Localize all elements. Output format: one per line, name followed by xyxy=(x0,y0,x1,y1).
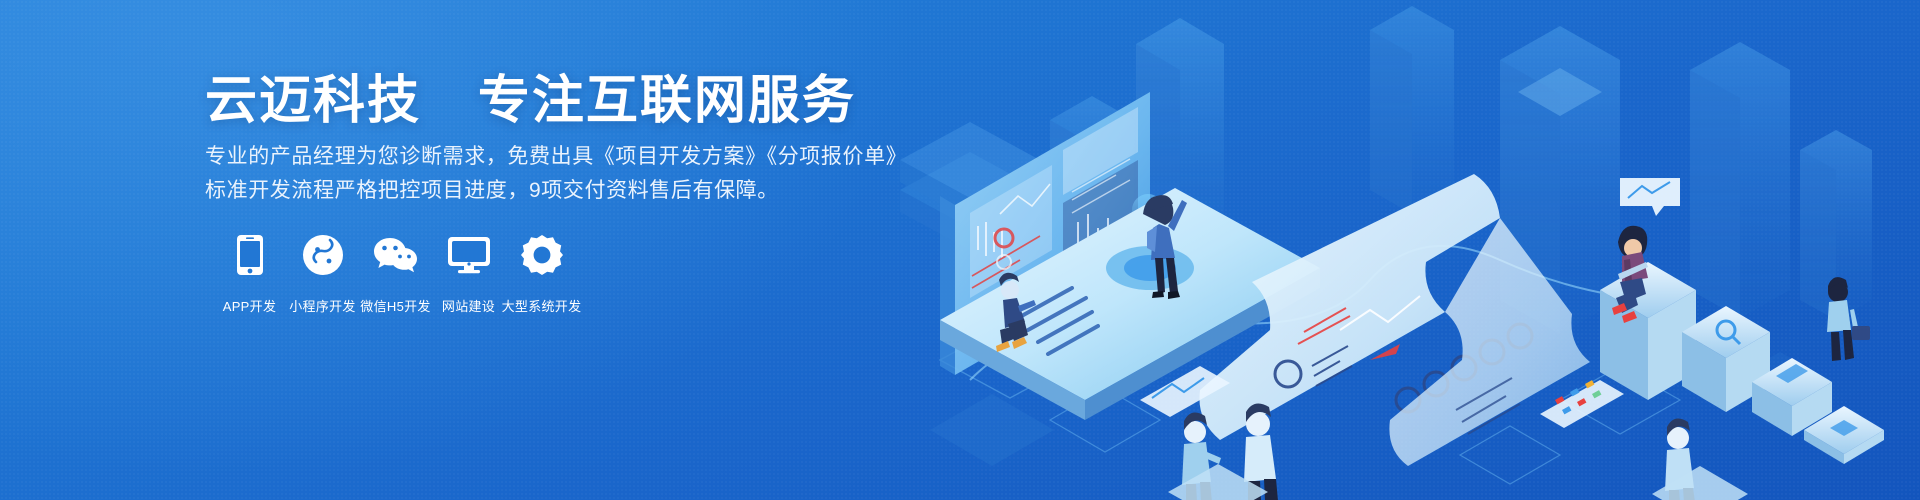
service-label: APP开发 xyxy=(223,296,277,315)
headline-tagline: 专注互联网服务 xyxy=(478,72,856,130)
wechat-icon xyxy=(373,232,419,278)
subtitle-line-2: 标准开发流程严格把控项目进度，9项交付资料售后有保障。 xyxy=(205,174,905,208)
headline-brand: 云迈科技 xyxy=(205,72,421,130)
banner-content: 云迈科技 专注互联网服务 专业的产品经理为您诊断需求，免费出具《项目开发方案》《… xyxy=(205,0,925,500)
banner-subtitle: 专业的产品经理为您诊断需求，免费出具《项目开发方案》《分项报价单》 标准开发流程… xyxy=(205,140,905,208)
mini-program-icon xyxy=(302,232,344,278)
service-item-system[interactable]: 大型系统开发 xyxy=(505,232,578,315)
promo-banner: 云迈科技 专注互联网服务 专业的产品经理为您诊断需求，免费出具《项目开发方案》《… xyxy=(0,0,1920,500)
monitor-icon xyxy=(447,232,491,278)
service-label: 小程序开发 xyxy=(289,296,356,315)
service-item-wechat[interactable]: 微信H5开发 xyxy=(359,232,432,315)
hero-illustration xyxy=(900,0,1920,500)
service-list: APP开发 小程序开发 xyxy=(213,232,578,315)
service-label: 大型系统开发 xyxy=(502,296,582,315)
floating-chart-bubble xyxy=(1620,178,1680,216)
service-item-app[interactable]: APP开发 xyxy=(213,232,286,315)
service-label: 网站建设 xyxy=(442,296,495,315)
subtitle-line-1: 专业的产品经理为您诊断需求，免费出具《项目开发方案》《分项报价单》 xyxy=(205,140,905,174)
service-item-website[interactable]: 网站建设 xyxy=(432,232,505,315)
mobile-phone-icon xyxy=(236,232,264,278)
service-label: 微信H5开发 xyxy=(360,296,430,315)
service-item-miniprogram[interactable]: 小程序开发 xyxy=(286,232,359,315)
page-title: 云迈科技 专注互联网服务 xyxy=(205,72,856,132)
gear-icon xyxy=(521,232,563,278)
